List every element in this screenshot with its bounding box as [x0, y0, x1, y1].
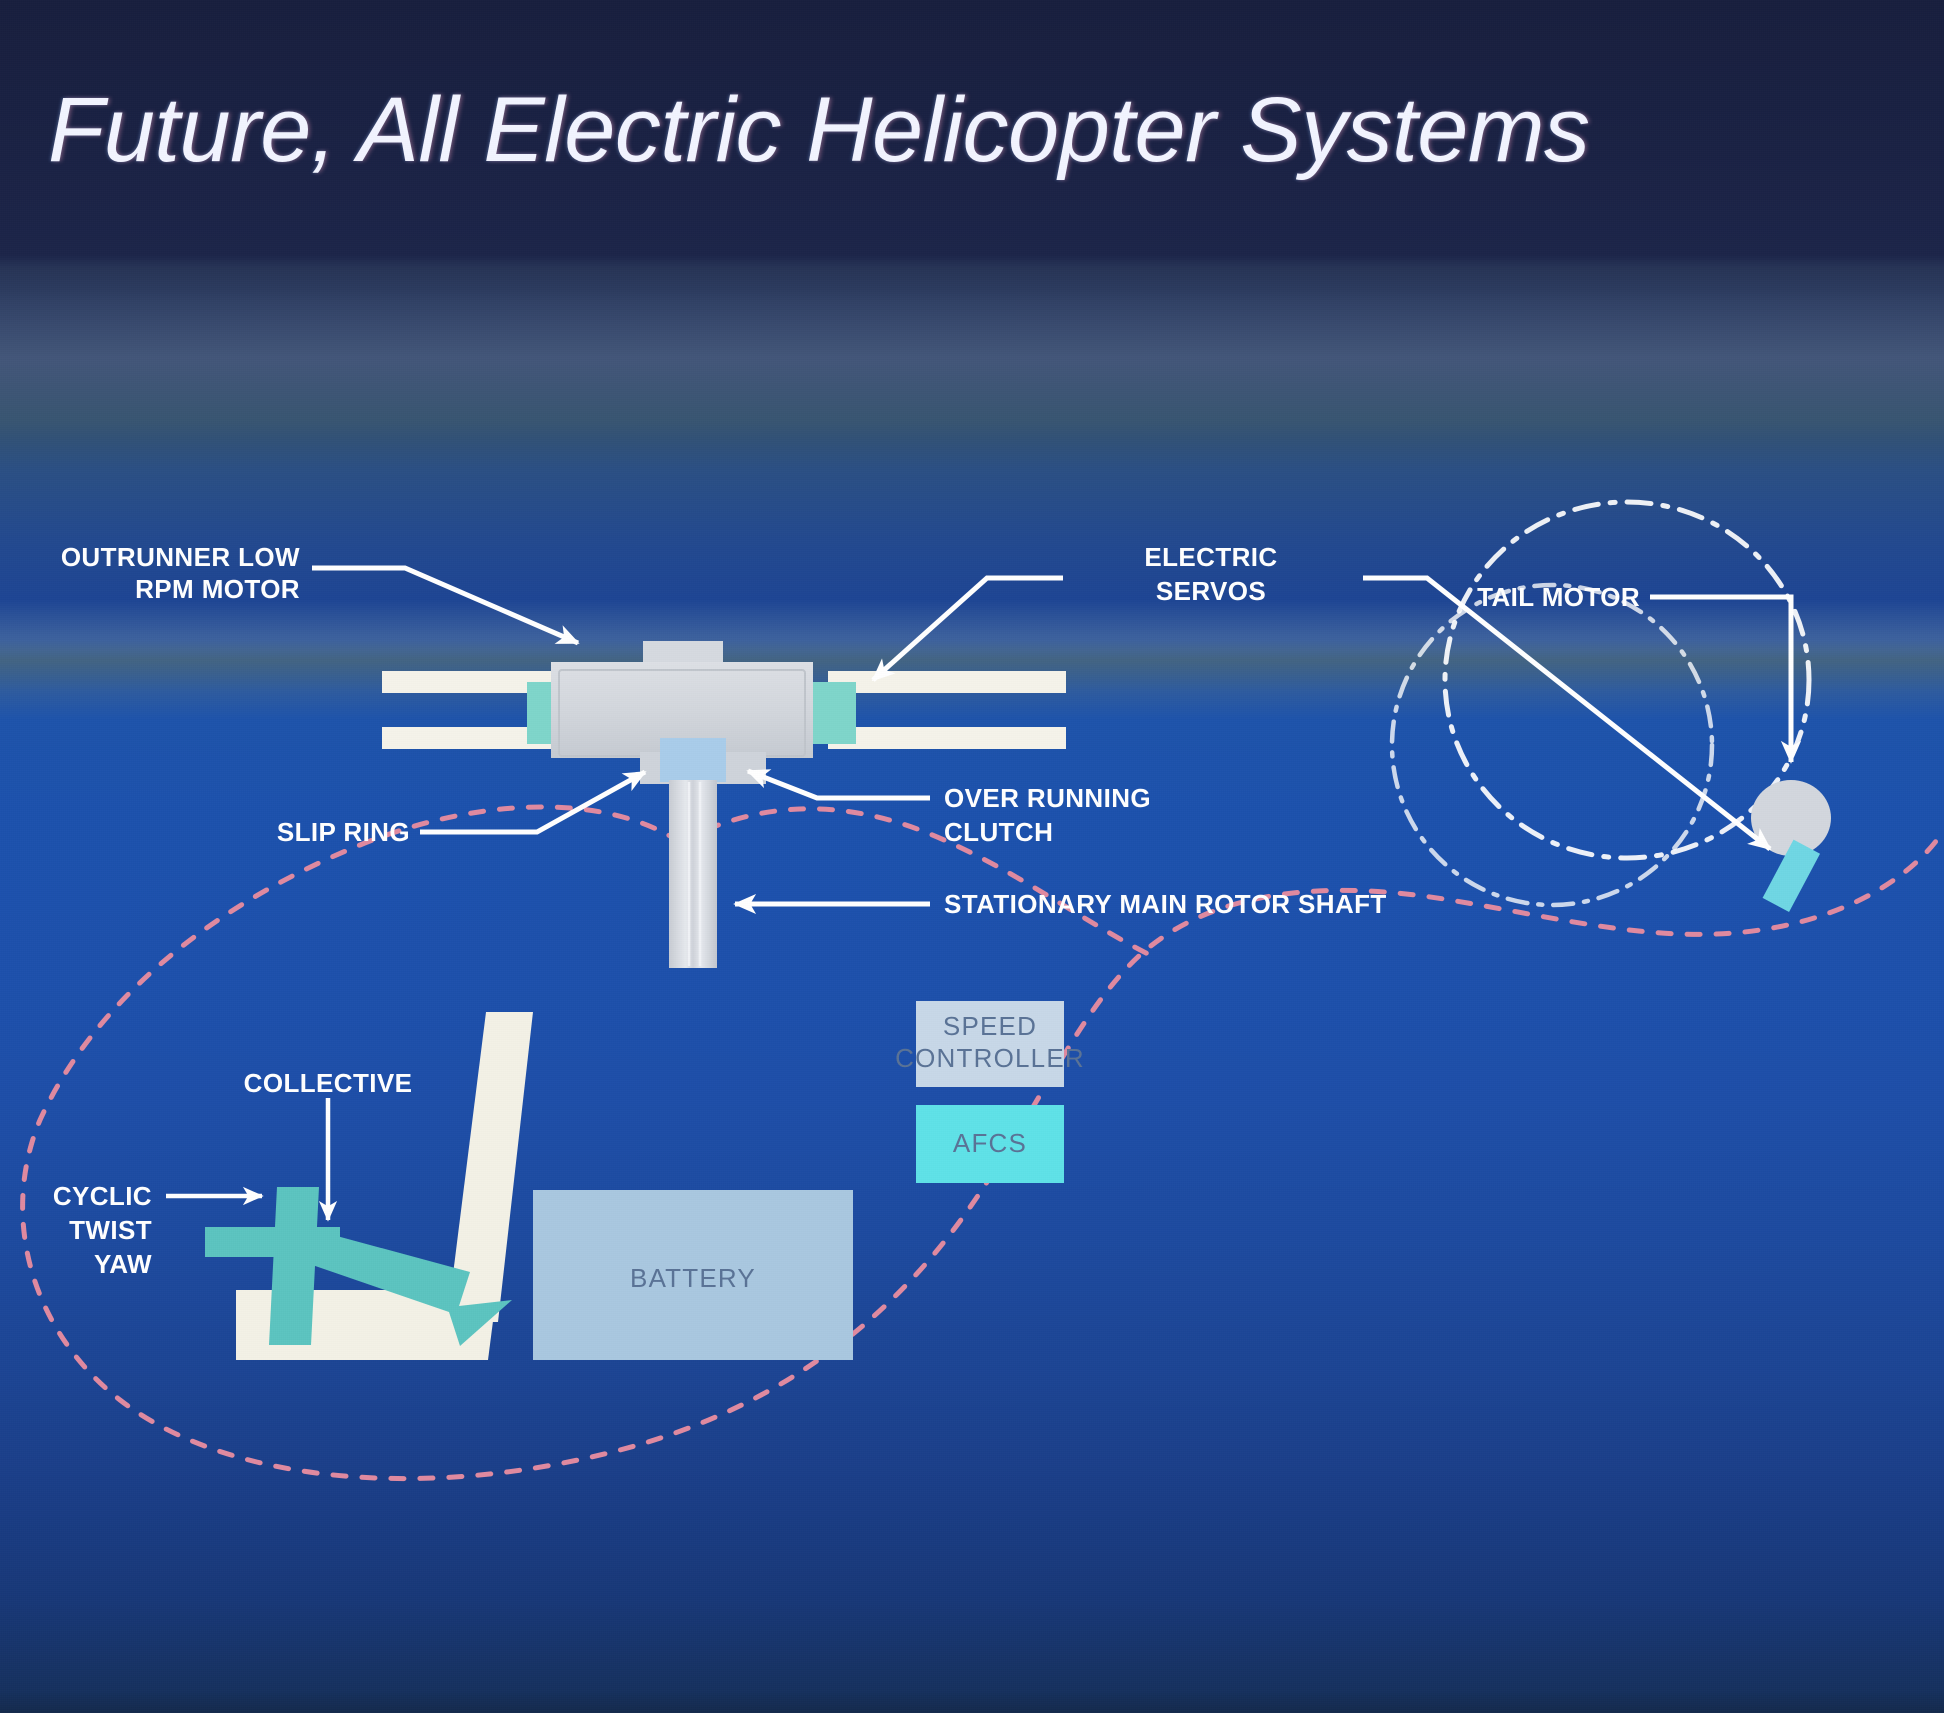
slip-ring-label: SLIP RING: [277, 817, 410, 847]
tail-rotor-disc-secondary: [1392, 585, 1712, 905]
cyclic-label-line2: TWIST: [69, 1215, 152, 1245]
pilot-station: [205, 1012, 533, 1360]
helicopter-systems-diagram: SPEED CONTROLLER AFCS BATTERY OUTRUNNER …: [0, 0, 1944, 1713]
electric-servos-label-line1: ELECTRIC: [1144, 542, 1277, 572]
afcs-box: AFCS: [916, 1105, 1064, 1183]
stationary-main-rotor-shaft: [669, 780, 717, 968]
cyclic-label-line3: YAW: [94, 1249, 152, 1279]
speed-controller-box: SPEED CONTROLLER: [895, 1001, 1085, 1087]
main-rotor-blade-right: [828, 671, 1066, 749]
battery-label: BATTERY: [630, 1263, 756, 1293]
slip-ring-leader: [420, 772, 645, 832]
speed-controller-label-line2: CONTROLLER: [895, 1043, 1085, 1073]
speed-controller-label-line1: SPEED: [943, 1011, 1037, 1041]
outrunner-motor-label-line1: OUTRUNNER LOW: [61, 542, 300, 572]
over-running-clutch-leader: [748, 771, 930, 798]
afcs-label: AFCS: [953, 1128, 1027, 1158]
callout-collective: COLLECTIVE: [244, 1068, 413, 1220]
outrunner-motor-leader: [312, 568, 578, 643]
tail-motor-label: TAIL MOTOR: [1477, 582, 1640, 612]
callout-tail-motor: TAIL MOTOR: [1477, 582, 1791, 762]
stationary-shaft-label: STATIONARY MAIN ROTOR SHAFT: [944, 889, 1387, 919]
cyclic-stick-vertical: [269, 1187, 319, 1345]
outrunner-motor-label-line2: RPM MOTOR: [135, 574, 300, 604]
over-running-clutch-label-line1: OVER RUNNING: [944, 783, 1151, 813]
electric-servos-leader-main-rotor: [873, 578, 1063, 680]
slip-ring-band: [660, 738, 726, 782]
over-running-clutch-label-line2: CLUTCH: [944, 817, 1053, 847]
callout-stationary-shaft: STATIONARY MAIN ROTOR SHAFT: [735, 889, 1387, 919]
battery-box: BATTERY: [533, 1190, 853, 1360]
presentation-slide: Future, All Electric Helicopter Systems: [0, 0, 1944, 1713]
collective-label: COLLECTIVE: [244, 1068, 413, 1098]
callout-over-running-clutch: OVER RUNNING CLUTCH: [748, 771, 1151, 847]
callout-outrunner-motor: OUTRUNNER LOW RPM MOTOR: [61, 542, 578, 643]
cyclic-label-line1: CYCLIC: [53, 1181, 152, 1211]
electric-servos-label-line2: SERVOS: [1156, 576, 1266, 606]
tail-motor-leader: [1650, 597, 1791, 762]
